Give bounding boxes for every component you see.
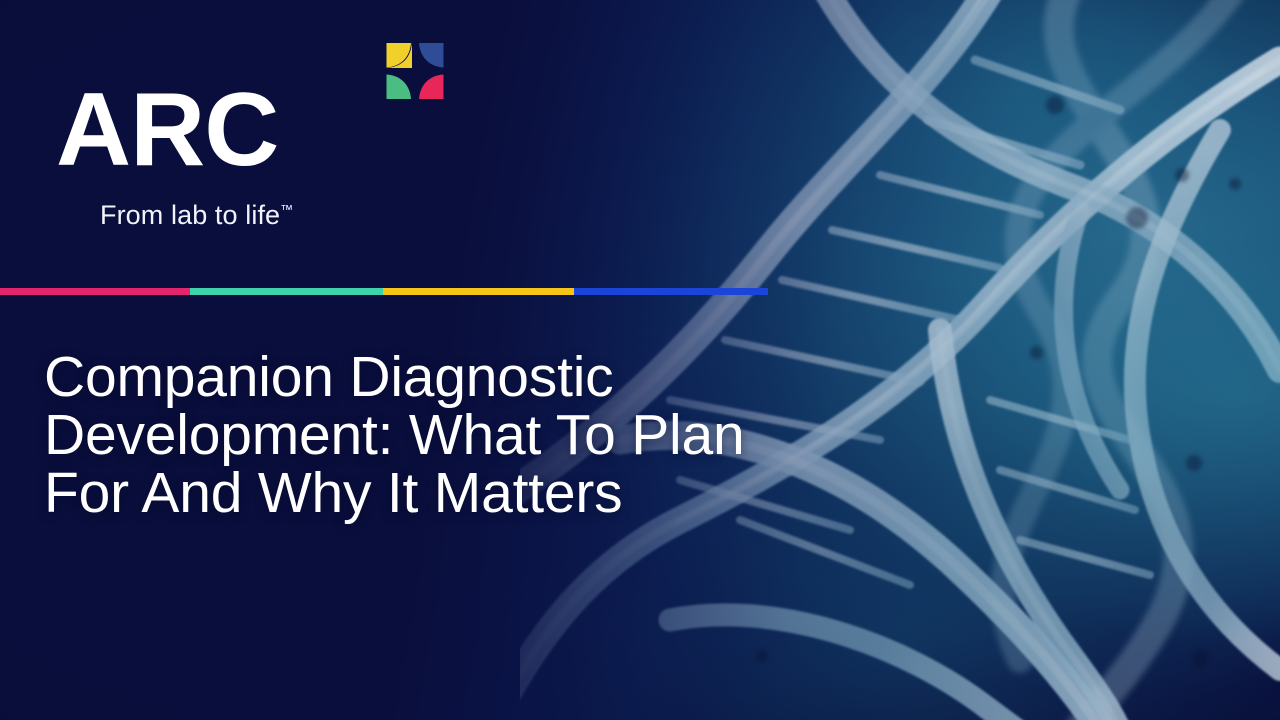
rule-segment-teal xyxy=(190,288,383,295)
brand-tagline-text: From lab to life xyxy=(100,200,280,230)
title-slide: ARC From lab to life™ Companion D xyxy=(0,0,1280,720)
trademark-symbol: ™ xyxy=(280,202,293,217)
arc-four-quadrant-mark-icon xyxy=(386,42,444,100)
brand-color-rule xyxy=(0,288,768,295)
title-line-1: Companion Diagnostic xyxy=(44,348,924,406)
rule-segment-blue xyxy=(574,288,768,295)
brand-tagline: From lab to life™ xyxy=(100,200,293,231)
page-title: Companion Diagnostic Development: What T… xyxy=(44,348,924,522)
arc-wordmark: ARC xyxy=(56,78,278,182)
rule-segment-yellow xyxy=(383,288,574,295)
title-line-2: Development: What To Plan xyxy=(44,406,924,464)
brand-logo-block: ARC From lab to life™ xyxy=(0,0,780,289)
rule-segment-pink xyxy=(0,288,190,295)
title-line-3: For And Why It Matters xyxy=(44,464,924,522)
